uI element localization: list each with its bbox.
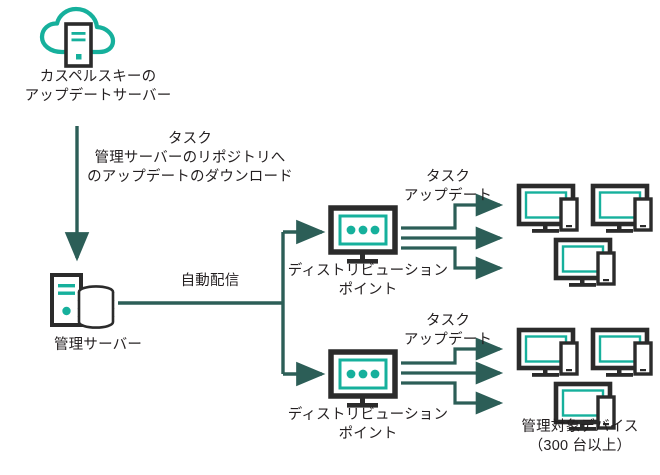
distribution-point-2-label-line1: ディストリビューション [268, 406, 468, 425]
managed-devices-label-line2: （300 台以上） [500, 437, 660, 456]
update-server-label: カスペルスキーの アップデートサーバー [0, 68, 196, 106]
managed-devices-label: 管理対象デバイス （300 台以上） [500, 418, 660, 456]
cloud-server-icon [42, 9, 113, 66]
distribution-point-1-label-line1: ディストリビューション [268, 262, 468, 281]
update-task-bottom-heading: タスク [378, 312, 518, 331]
update-task-top-label: タスク アップデート [378, 168, 518, 206]
download-task-detail-line2: のアップデートのダウンロード [60, 168, 320, 187]
distribution-point-1-label-line2: ポイント [268, 281, 468, 300]
edge-dp1-to-devices [401, 205, 500, 268]
update-server-label-line1: カスペルスキーの [0, 68, 196, 87]
update-task-top-heading: タスク [378, 168, 518, 187]
update-server-label-line2: アップデートサーバー [0, 87, 196, 106]
admin-server-database-icon [52, 275, 113, 328]
update-task-bottom-detail: アップデート [378, 331, 518, 350]
monitor-phone-icon-3 [556, 240, 614, 287]
monitor-phone-icon-5 [593, 330, 651, 377]
auto-distribution-label: 自動配信 [150, 272, 270, 291]
distribution-point-2-label-line2: ポイント [268, 425, 468, 444]
download-task-heading: タスク [60, 130, 320, 149]
managed-devices-label-line1: 管理対象デバイス [500, 418, 660, 437]
update-task-bottom-label: タスク アップデート [378, 312, 518, 350]
monitor-phone-icon-1 [519, 186, 577, 233]
admin-server-label: 管理サーバー [0, 336, 196, 355]
monitor-phone-icon-2 [593, 186, 651, 233]
download-task-detail-line1: 管理サーバーのリポジトリへ [60, 149, 320, 168]
download-task-label: タスク 管理サーバーのリポジトリへ のアップデートのダウンロード [60, 130, 320, 187]
update-task-top-detail: アップデート [378, 187, 518, 206]
monitor-three-dots-icon-2 [331, 352, 395, 408]
distribution-point-1-label: ディストリビューション ポイント [268, 262, 468, 300]
distribution-point-2-label: ディストリビューション ポイント [268, 406, 468, 444]
monitor-phone-icon-4 [519, 330, 577, 377]
edge-dp2-to-devices [401, 349, 500, 403]
monitor-three-dots-icon-1 [331, 208, 395, 264]
network-topology-diagram: カスペルスキーの アップデートサーバー タスク 管理サーバーのリポジトリへ のア… [0, 0, 660, 475]
